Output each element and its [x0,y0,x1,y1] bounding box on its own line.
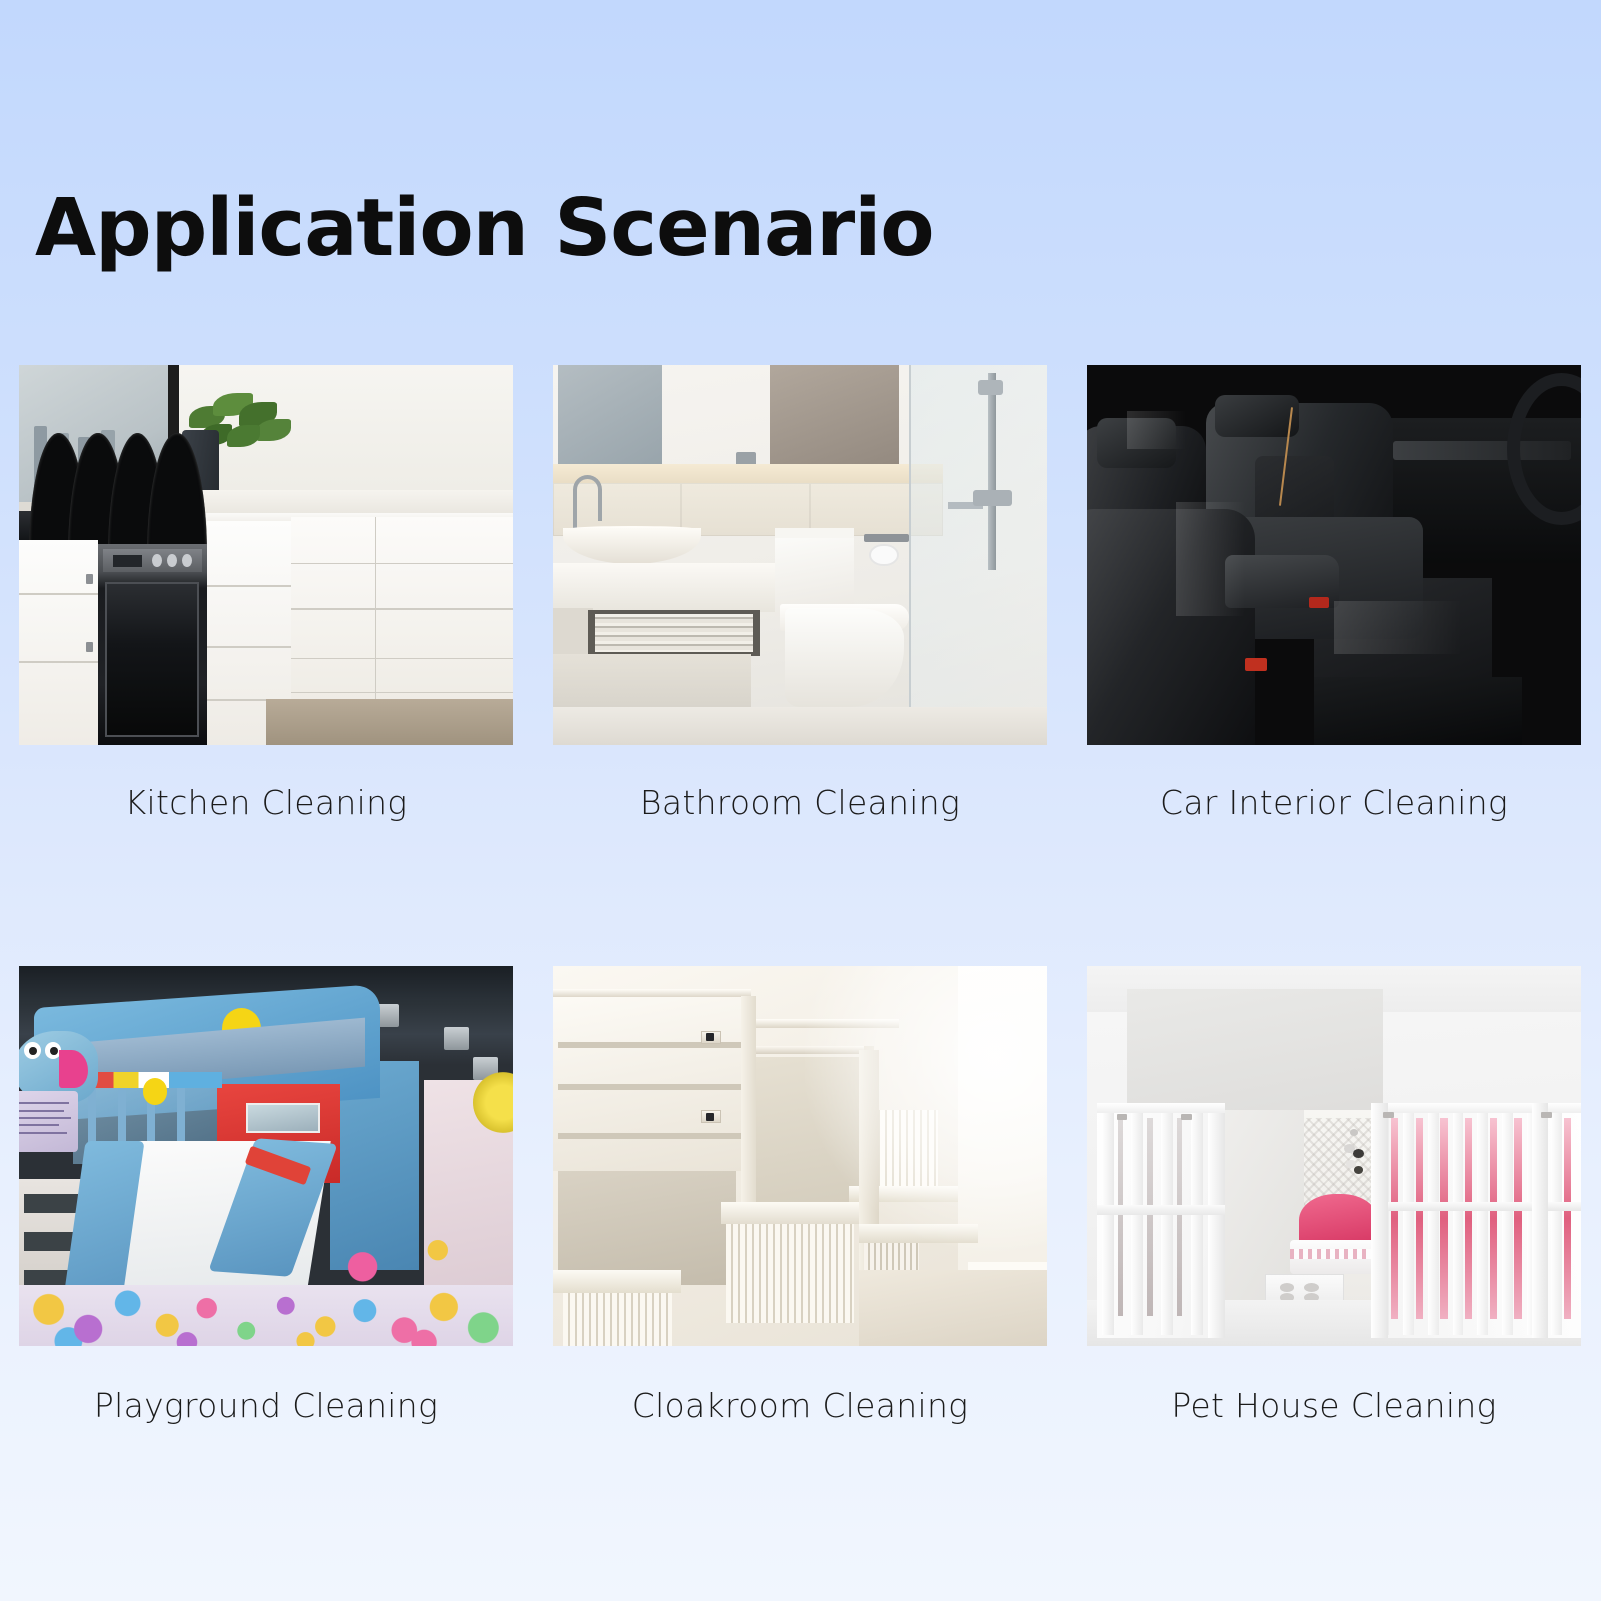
scenario-card-bathroom[interactable]: Bathroom Cleaning [553,365,1047,831]
scenario-card-pet-house[interactable]: Pet House Cleaning [1087,966,1581,1434]
scenario-image-kitchen [19,365,513,745]
scenario-card-cloakroom[interactable]: Cloakroom Cleaning [553,966,1047,1434]
scenario-image-bathroom [553,365,1047,745]
scenario-card-kitchen[interactable]: Kitchen Cleaning [19,365,513,831]
scenario-image-playground [19,966,513,1346]
scenario-image-cloakroom [553,966,1047,1346]
scenario-grid: Kitchen Cleaning [19,365,1581,1434]
scenario-caption: Cloakroom Cleaning [553,1388,1047,1434]
page-title: Application Scenario [35,189,934,268]
scenario-caption: Kitchen Cleaning [19,785,513,831]
scenario-image-car [1087,365,1581,745]
scenario-image-pet-house [1087,966,1581,1346]
scenario-caption: Car Interior Cleaning [1087,785,1581,831]
scenario-caption: Bathroom Cleaning [553,785,1047,831]
scenario-card-car[interactable]: Car Interior Cleaning [1087,365,1581,831]
scenario-card-playground[interactable]: Playground Cleaning [19,966,513,1434]
scenario-caption: Playground Cleaning [19,1388,513,1434]
scenario-caption: Pet House Cleaning [1087,1388,1581,1434]
